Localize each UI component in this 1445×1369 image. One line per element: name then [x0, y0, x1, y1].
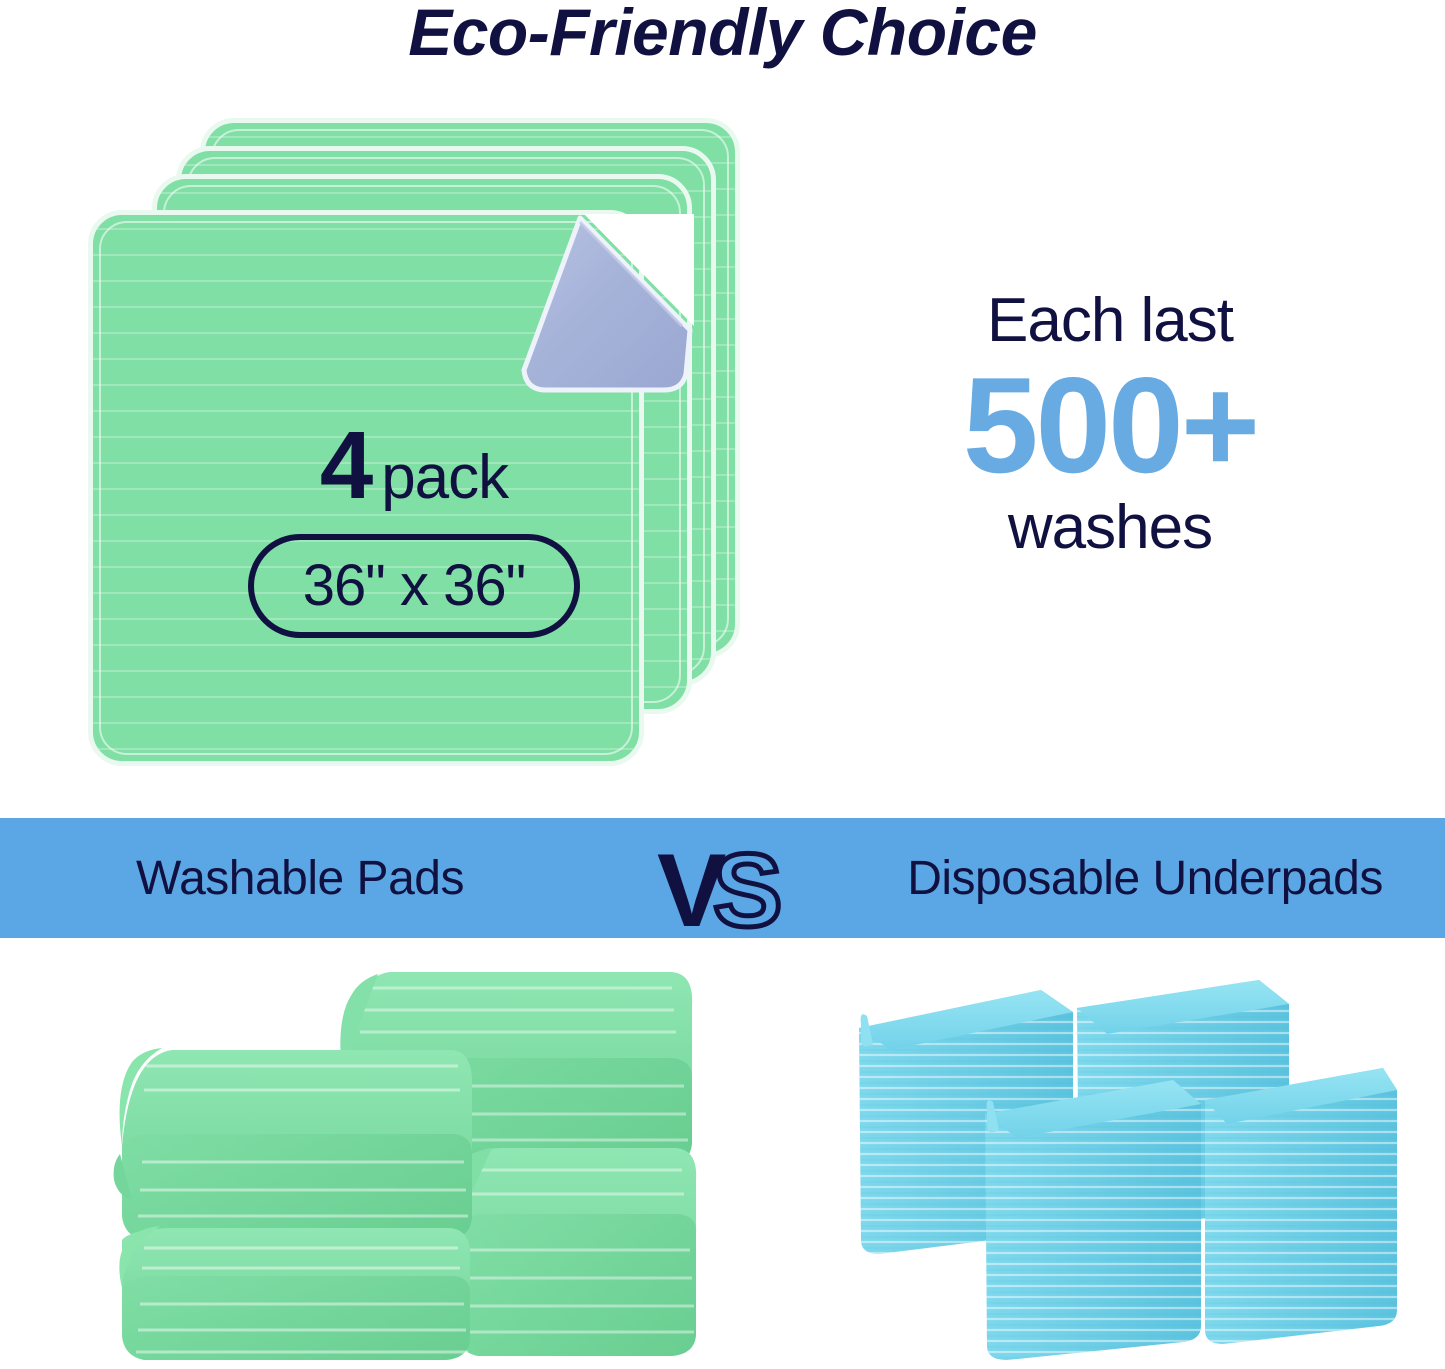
banner-right-cell: Disposable Underpads	[805, 818, 1445, 938]
folded-pad-back-lower	[454, 1148, 696, 1356]
size-badge: 36" x 36"	[248, 534, 580, 638]
pack-count-number: 4	[320, 418, 371, 514]
claim-line-1: Each last	[900, 288, 1320, 353]
pack-count-line: 4 pack	[204, 418, 624, 514]
disposable-stack-front-right	[1205, 1068, 1397, 1344]
pack-count-word: pack	[381, 447, 508, 509]
comparison-banner: Washable Pads V S Disposable Underpads	[0, 818, 1445, 938]
banner-left-label: Washable Pads	[136, 851, 464, 906]
page-title: Eco-Friendly Choice	[0, 0, 1445, 70]
vs-letter-s: S	[713, 834, 782, 938]
banner-left-cell: Washable Pads	[0, 818, 640, 938]
stacked-disposable-underpads-image	[845, 958, 1405, 1368]
product-hero-image: 4 pack 36" x 36"	[84, 118, 744, 758]
folded-washable-pads-image	[60, 958, 720, 1368]
disposable-stack-front-left	[985, 1080, 1201, 1360]
banner-right-label: Disposable Underpads	[907, 851, 1383, 906]
folded-pad-front-upper	[114, 1048, 472, 1240]
size-badge-label: 36" x 36"	[303, 557, 525, 615]
pad-label-group: 4 pack 36" x 36"	[204, 418, 624, 638]
folded-pad-front-lower	[119, 1226, 470, 1360]
durability-claim: Each last 500+ washes	[900, 288, 1320, 560]
claim-highlight-number: 500+	[900, 357, 1320, 493]
claim-line-2: washes	[900, 495, 1320, 560]
